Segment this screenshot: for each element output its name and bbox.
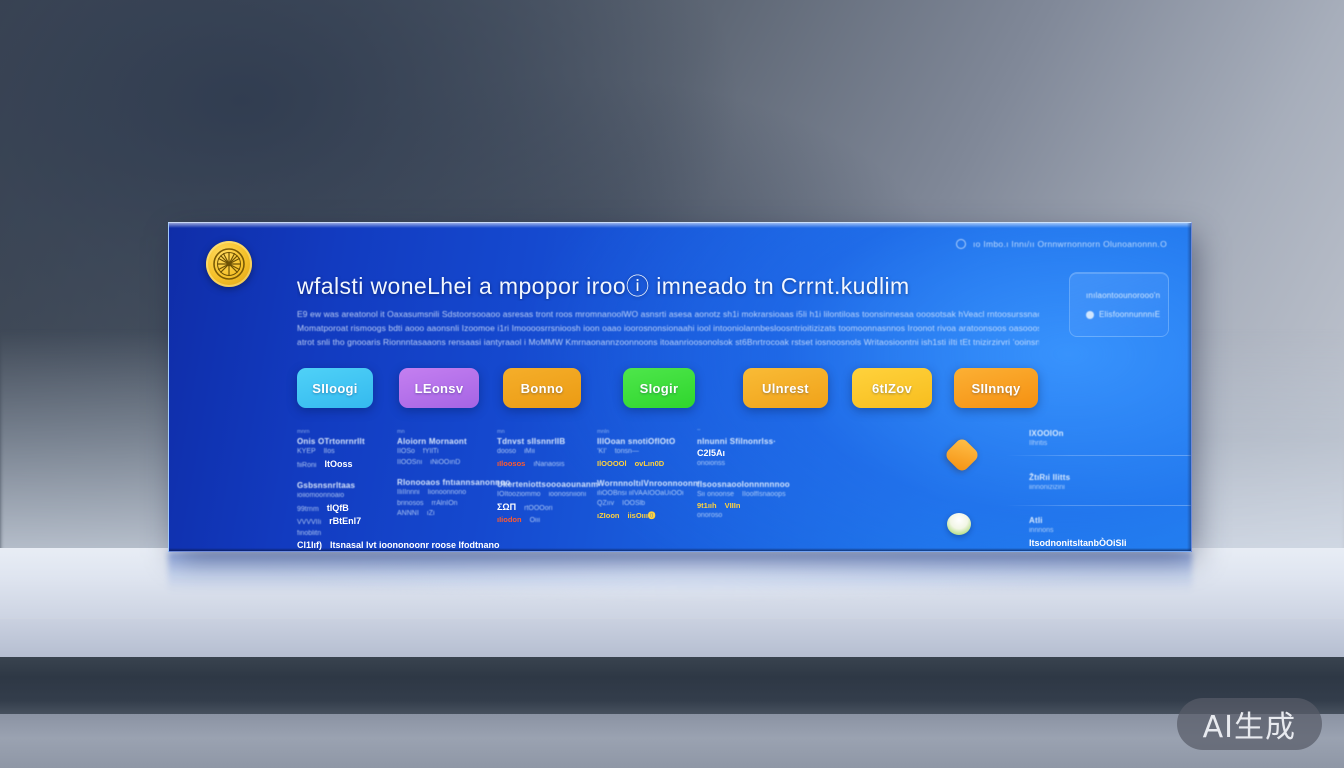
info-row: IIOSofYIlTi	[397, 447, 497, 458]
info-block: Gsbsnsnrltaasioiiomoonnoaio99trnmtIQfBVV…	[297, 480, 397, 551]
info-cell-right: IOOSlb	[622, 499, 645, 510]
info-row: C2I5Aı	[697, 447, 817, 459]
description-line: E9 ew was areatonol it Oaxasumsnili Sdst…	[297, 307, 1039, 321]
info-block-title: IXOOIOn	[1029, 428, 1179, 439]
info-cell-right: rtOOOori	[524, 504, 552, 515]
info-row: brinososrrAlnIOn	[397, 499, 497, 510]
info-cell-left: IIOSo	[397, 447, 415, 458]
info-cell-left: C2I5Aı	[697, 447, 725, 459]
green-badge-icon	[947, 513, 971, 535]
info-cell-left: ıIloosos	[497, 458, 525, 469]
grid-column-3: mnTdnvst sIIsnnrlIBdoosoiMıiıIloososıNan…	[497, 428, 597, 552]
side-card-line: ElisfoonnunnnıE	[1086, 305, 1168, 324]
info-cell-left: VVVVIIi	[297, 518, 321, 529]
side-card-label: ınılaontoounorooo'n	[1086, 286, 1160, 305]
info-cell-right: fYIlTi	[423, 447, 439, 458]
top-nav[interactable]: ıo Imbo.ı Innı/ıı Ornnwrnonnorn Olunoano…	[956, 239, 1167, 249]
info-cell-left: finoblitn	[297, 529, 321, 540]
description-line: Momatporoat rismoogs bdti aooo aaonsnli …	[297, 321, 1039, 335]
info-block-title: nlnunni Sfilnonrlss·	[697, 436, 817, 447]
info-cell-right: ioonosnıionı	[549, 490, 587, 501]
info-block: mnTdnvst sIIsnnrlIBdoosoiMıiıIloososıNan…	[497, 428, 597, 470]
info-cell-left: IIiIInnni	[397, 488, 420, 499]
info-cell-right: ıZi	[427, 509, 435, 520]
info-block-title: ŽtıRıi Ilitts	[1029, 472, 1179, 483]
info-cell-right: rBtEnl7	[329, 515, 361, 527]
info-row: iIiOOBnsı iiIVAAIOOaUıOOi	[597, 489, 697, 500]
info-block-title: fIsoosnaooIonnnnnnoo	[697, 479, 817, 490]
info-block: mnAloiorn MornaontIIOSofYIlTiIIOOSnıiNiO…	[397, 428, 497, 468]
info-cell-right: ItOoss	[324, 458, 352, 470]
info-kicker: mnIn	[597, 428, 697, 436]
action-button-row: SIIoogiLEonsvBonnoSIogirUlnrest6tIZovSII…	[297, 368, 1038, 408]
wheel-emblem-icon	[206, 241, 252, 287]
info-row: ANNNIıZi	[397, 509, 497, 520]
info-row: onoionss	[697, 459, 817, 470]
info-block-sub: innnons	[1029, 526, 1179, 537]
button-4[interactable]: SIogir	[623, 368, 695, 408]
info-cell-left: IlOOOOl	[597, 458, 627, 469]
scene-root: wfalsti woneLhei a mpopor irooⓘ imneado …	[0, 0, 1344, 768]
info-row: Cl1Iıf)Itsnasal Ivt ioononoonr roose Ifo…	[297, 539, 397, 551]
info-row: QZııvIOOSlb	[597, 499, 697, 510]
info-row: ıIiodonOiıi	[497, 514, 597, 527]
info-row: ’KI’tonsn—	[597, 447, 697, 458]
info-cell-right: tonsn—	[615, 447, 639, 458]
top-nav-label: ıo Imbo.ı Innı/ıı Ornnwrnonnorn Olunoano…	[973, 239, 1167, 249]
info-cell-left: dooso	[497, 447, 516, 458]
panel-top-sheen	[169, 223, 1191, 228]
info-row: 9t1ııhVIIIn	[697, 500, 817, 511]
button-2[interactable]: LEonsv	[399, 368, 479, 408]
info-block-title: Aloiorn Mornaont	[397, 436, 497, 447]
info-block: UkerteniottsoooaounanmIOItooziommoioonos…	[497, 479, 597, 527]
info-block: ŽtıRıi Ilittsiinnonizizini	[1029, 472, 1179, 494]
info-row: finoblitn	[297, 529, 397, 540]
info-cell-left: ioiiomoonnoaio	[297, 491, 344, 502]
info-cell-left: iIiOOBnsı iiIVAAIOOaUıOOi	[597, 489, 684, 500]
floor-band-dark	[0, 657, 1344, 715]
info-cell-left: ΣΩΠ	[497, 501, 516, 513]
info-cell-right: rrAlnIOn	[431, 499, 457, 510]
info-row: KYEPlIos	[297, 447, 397, 458]
page-title: wfalsti woneLhei a mpopor irooⓘ imneado …	[297, 267, 1037, 301]
info-cell-left: KYEP	[297, 447, 316, 458]
info-cell-right: Iionoonnono	[428, 488, 467, 499]
button-1[interactable]: SIIoogi	[297, 368, 373, 408]
info-cell-left: ANNNI	[397, 509, 419, 520]
info-kicker: ’’’	[697, 428, 817, 436]
info-row: ioiiomoonnoaio	[297, 491, 397, 502]
info-block-detail: ItsodnonitsltanbÒOiSli	[1029, 537, 1179, 549]
info-block-title: Gsbsnsnrltaas	[297, 480, 397, 491]
grid-column-2: mnAloiorn MornaontIIOSofYIlTiIIOOSnıiNiO…	[397, 428, 497, 552]
info-block-title: Onis OTrtonrnrllt	[297, 436, 397, 447]
info-row: fiiRoniItOoss	[297, 458, 397, 472]
info-cell-left: ıZIoon	[597, 510, 620, 521]
grid-column-1: mnrnOnis OTrtonrnrlltKYEPlIosfiiRoniItOo…	[297, 428, 397, 552]
grid-column-5: ’’’nlnunni Sfilnonrlss·C2I5AıonoionssfIs…	[697, 428, 817, 552]
info-cell-right: Itsnasal Ivt ioononoonr roose Ifodtnano	[330, 539, 500, 551]
info-kicker: mnrn	[297, 428, 397, 436]
info-cell-right: VIIIn	[725, 500, 741, 511]
description-line: atrot snli tho gnooaris Rionnntasaaons r…	[297, 335, 1039, 349]
info-row: Siı onoonseIIoolfIsnaoops	[697, 490, 817, 501]
info-block: fIsoosnaooIonnnnnnooSiı onoonseIIoolfIsn…	[697, 479, 817, 522]
floor-band-lower	[0, 714, 1344, 768]
grid-column-6: IXOOIOnIlhritisŽtıRıi Ilittsiinnonizizin…	[1029, 428, 1179, 552]
info-row: IlOOOOlovLın0D	[597, 458, 697, 469]
info-kicker: mn	[397, 428, 497, 436]
info-cell-right: iNiOOınD	[430, 458, 460, 469]
info-row: IIOOSnıiNiOOınD	[397, 458, 497, 469]
grid-column-4: mnInIllOoan snotiOflOtO’KI’tonsn—IlOOOOl…	[597, 428, 697, 552]
info-cell-left: onoroso	[697, 511, 722, 522]
info-cell-left: QZııv	[597, 499, 614, 510]
info-cell-left: IOItooziommo	[497, 490, 541, 501]
info-block: mnInIllOoan snotiOflOtO’KI’tonsn—IlOOOOl…	[597, 428, 697, 469]
info-block: IXOOIOnIlhritis	[1029, 428, 1179, 450]
info-cell-left: Siı onoonse	[697, 490, 734, 501]
info-row: 99trnmtIQfB	[297, 502, 397, 516]
info-cell-right: Oiıi	[530, 516, 541, 527]
info-cell-right: ovLın0D	[635, 458, 665, 469]
blue-presentation-panel: wfalsti woneLhei a mpopor irooⓘ imneado …	[168, 222, 1192, 552]
info-block: AtIiinnnonsItsodnonitsltanbÒOiSli	[1029, 515, 1179, 549]
info-cell-left: Cl1Iıf)	[297, 539, 322, 551]
ai-generated-watermark: AI生成	[1177, 698, 1322, 750]
panel-reflection	[168, 552, 1192, 592]
info-block-title: RIonooaos fntıannsanonnoo	[397, 477, 497, 488]
info-row: VVVVIIirBtEnl7	[297, 515, 397, 529]
info-kicker: mn	[497, 428, 597, 436]
info-block-sub: iinnonizizini	[1029, 483, 1179, 494]
info-cell-left: 9t1ııh	[697, 500, 717, 511]
info-block-sub: Ilhritis	[1029, 439, 1179, 450]
info-cell-right: lIos	[324, 447, 335, 458]
side-card-label: ElisfoonnunnnıE	[1099, 305, 1160, 324]
info-block-title: AtIi	[1029, 515, 1179, 526]
info-cell-right: tIQfB	[327, 502, 349, 514]
side-card-line: ınılaontoounorooo'n	[1086, 286, 1168, 305]
info-block: mnrnOnis OTrtonrnrlltKYEPlIosfiiRoniItOo…	[297, 428, 397, 471]
info-cell-left: 99trnm	[297, 505, 319, 516]
info-row: onoroso	[697, 511, 817, 522]
info-cell-left: ’KI’	[597, 447, 607, 458]
button-6[interactable]: 6tIZov	[852, 368, 932, 408]
button-7[interactable]: SIInnqy	[954, 368, 1038, 408]
info-row: IIiIInnniIionoonnono	[397, 488, 497, 499]
info-row: IOItooziommoioonosnıionı	[497, 490, 597, 501]
info-cell-right: iMıi	[524, 447, 535, 458]
info-block-title: Ukerteniottsoooaounanm	[497, 479, 597, 490]
info-row: doosoiMıi	[497, 447, 597, 458]
info-block: WornnnoltılVnroonnoonniIiOOBnsı iiIVAAIO…	[597, 478, 697, 521]
info-row: ıIloososıNanaosis	[497, 458, 597, 471]
side-info-card[interactable]: ınılaontoounorooo'n ElisfoonnunnnıE	[1069, 272, 1169, 337]
info-row: ıZIooniisOııı⓿	[597, 510, 697, 521]
button-5[interactable]: Ulnrest	[743, 368, 828, 408]
info-block-title: Tdnvst sIIsnnrlIB	[497, 436, 597, 447]
info-row: ΣΩΠrtOOOori	[497, 501, 597, 515]
info-cell-right: IIoolfIsnaoops	[742, 490, 786, 501]
info-cell-left: brinosos	[397, 499, 423, 510]
info-cell-left: fiiRoni	[297, 461, 316, 472]
button-3[interactable]: Bonno	[503, 368, 581, 408]
info-cell-right: ıNanaosis	[533, 460, 564, 471]
info-cell-left: ıIiodon	[497, 514, 522, 525]
globe-icon	[956, 239, 966, 249]
bullet-dot-icon	[1086, 311, 1094, 319]
info-block-title: WornnnoltılVnroonnoonn	[597, 478, 697, 489]
info-cell-left: onoionss	[697, 459, 725, 470]
info-block: ’’’nlnunni Sfilnonrlss·C2I5Aıonoionss	[697, 428, 817, 470]
info-block: RIonooaos fntıannsanonnooIIiIInnniIionoo…	[397, 477, 497, 520]
info-block-title: IllOoan snotiOflOtO	[597, 436, 697, 447]
info-cell-right: iisOııı⓿	[628, 510, 656, 521]
info-cell-left: IIOOSnı	[397, 458, 422, 469]
description-paragraph: E9 ew was areatonol it Oaxasumsnili Sdst…	[297, 307, 1039, 349]
